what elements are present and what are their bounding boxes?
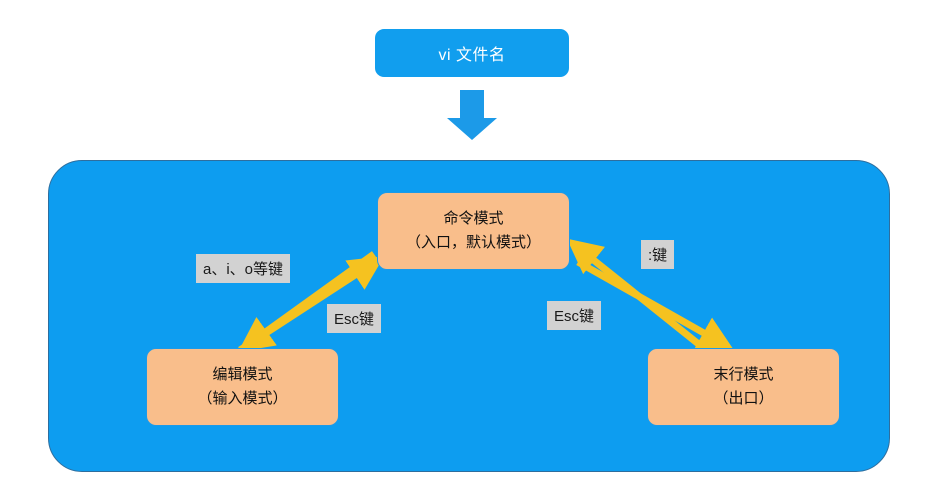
node-edit-mode[interactable]: 编辑模式 （输入模式） [146,348,339,426]
entry-node-vi-filename[interactable]: vi 文件名 [375,29,569,77]
edge-label-colon-key: :键 [641,240,674,269]
node-command-mode-line2: （入口，默认模式） [406,231,541,255]
edge-label-esc-right: Esc键 [547,301,601,330]
diagram-canvas: vi 文件名 命令模式 （入口，默认模式） 编辑模式 （输入模式） 末行模式 （… [0,0,938,500]
node-lastline-mode[interactable]: 末行模式 （出口） [647,348,840,426]
node-edit-mode-line1: 编辑模式 [212,363,272,387]
node-edit-mode-line2: （输入模式） [197,387,287,411]
node-command-mode-line1: 命令模式 [443,207,503,231]
entry-node-label: vi 文件名 [438,41,505,65]
edge-label-esc-left: Esc键 [327,304,381,333]
node-lastline-mode-line2: （出口） [713,387,773,411]
edge-label-insert-keys: a、i、o等键 [196,254,290,283]
node-lastline-mode-line1: 末行模式 [713,363,773,387]
node-command-mode[interactable]: 命令模式 （入口，默认模式） [377,192,570,270]
